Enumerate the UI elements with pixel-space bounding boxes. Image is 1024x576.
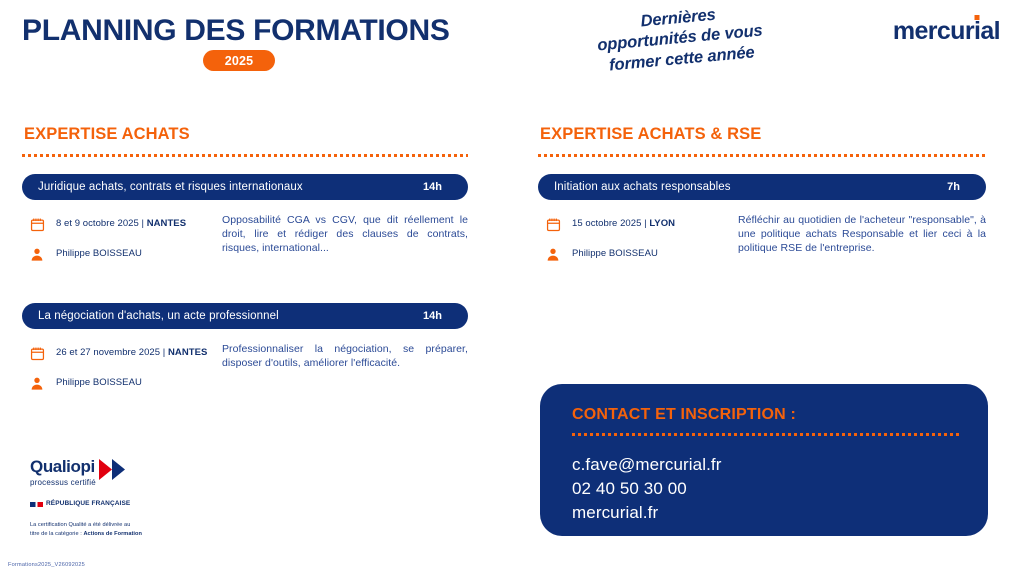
course-date-text: 8 et 9 octobre 2025 | — [56, 218, 147, 229]
course-date: 8 et 9 octobre 2025 | NANTES — [56, 218, 186, 229]
course-description: Professionnaliser la négociation, se pré… — [222, 342, 468, 394]
contact-phone[interactable]: 02 40 50 30 00 — [572, 477, 960, 501]
qualiopi-fine-print: La certification Qualité a été délivrée … — [30, 521, 220, 538]
calendar-icon — [546, 217, 572, 232]
course-title-bar[interactable]: Initiation aux achats responsables 7h — [538, 174, 986, 200]
course-date-text: 26 et 27 novembre 2025 | — [56, 347, 168, 358]
course-trainer-row: Philippe BOISSEAU — [30, 372, 222, 394]
course-date: 26 et 27 novembre 2025 | NANTES — [56, 347, 207, 358]
republique-francaise-mark: RÉPUBLIQUE FRANÇAISE — [30, 494, 220, 512]
contact-divider — [572, 433, 960, 436]
course-description: Opposabilité CGA vs CGV, que dit réellem… — [222, 213, 468, 265]
calendar-icon — [30, 346, 56, 361]
course-meta: 26 et 27 novembre 2025 | NANTES Philippe… — [30, 342, 222, 394]
course-details: 26 et 27 novembre 2025 | NANTES Philippe… — [22, 342, 468, 394]
column-expertise-achats: EXPERTISE ACHATS Juridique achats, contr… — [22, 125, 468, 394]
contact-website[interactable]: mercurial.fr — [572, 501, 960, 525]
column-expertise-achats-rse: EXPERTISE ACHATS & RSE Initiation aux ac… — [538, 125, 986, 265]
qualiopi-certification: Qualiopi processus certifié RÉPUBLIQUE F… — [30, 458, 220, 538]
course-date-row: 8 et 9 octobre 2025 | NANTES — [30, 213, 222, 235]
course-card: Juridique achats, contrats et risques in… — [22, 174, 468, 265]
course-trainer-row: Philippe BOISSEAU — [546, 243, 738, 265]
course-city: LYON — [649, 218, 675, 229]
course-trainer: Philippe BOISSEAU — [572, 248, 658, 259]
qualiopi-category: Actions de Formation — [83, 531, 142, 537]
logo-text-after-i: al — [980, 17, 1000, 45]
course-card: Initiation aux achats responsables 7h — [538, 174, 986, 265]
course-title: Initiation aux achats responsables — [554, 181, 947, 193]
course-date-text: 15 octobre 2025 | — [572, 218, 649, 229]
logo-text-before-i: mercur — [893, 17, 974, 45]
course-title: Juridique achats, contrats et risques in… — [38, 181, 423, 193]
section-heading-expertise-achats-rse: EXPERTISE ACHATS & RSE — [540, 125, 986, 144]
section-heading-expertise-achats: EXPERTISE ACHATS — [24, 125, 468, 144]
calendar-icon — [30, 217, 56, 232]
french-flag-icon — [30, 494, 43, 512]
page-title: PLANNING DES FORMATIONS — [22, 14, 450, 48]
course-date: 15 octobre 2025 | LYON — [572, 218, 675, 229]
course-title: La négociation d'achats, un acte profess… — [38, 310, 423, 322]
qualiopi-chevrons-icon — [99, 459, 133, 485]
course-date-row: 15 octobre 2025 | LYON — [546, 213, 738, 235]
qualiopi-fine-line-1: La certification Qualité a été délivrée … — [30, 521, 220, 530]
person-icon — [30, 247, 56, 262]
qualiopi-fine-line-2: titre de la catégorie : Actions de Forma… — [30, 530, 220, 539]
course-description: Réfléchir au quotidien de l'acheteur "re… — [738, 213, 986, 265]
qualiopi-logo: Qualiopi processus certifié — [30, 458, 220, 487]
qualiopi-wordmark-block: Qualiopi processus certifié — [30, 458, 96, 487]
section-divider — [22, 154, 468, 157]
course-meta: 8 et 9 octobre 2025 | NANTES Philippe BO… — [30, 213, 222, 265]
course-title-bar[interactable]: Juridique achats, contrats et risques in… — [22, 174, 468, 200]
logo-letter-i-with-orange-dot: i — [974, 19, 980, 44]
person-icon — [546, 247, 572, 262]
course-city: NANTES — [147, 218, 186, 229]
tagline: Dernières opportunités de vous former ce… — [558, 0, 803, 80]
course-duration: 7h — [947, 181, 968, 193]
contact-card: CONTACT ET INSCRIPTION : c.fave@mercuria… — [540, 384, 988, 536]
course-title-bar[interactable]: La négociation d'achats, un acte profess… — [22, 303, 468, 329]
person-icon — [30, 376, 56, 391]
qualiopi-wordmark: Qualiopi — [30, 458, 96, 475]
section-divider — [538, 154, 986, 157]
course-meta: 15 octobre 2025 | LYON Philippe BOISSEAU — [546, 213, 738, 265]
document-reference: Formations2025_V26092025 — [8, 562, 85, 568]
course-card: La négociation d'achats, un acte profess… — [22, 303, 468, 394]
course-trainer: Philippe BOISSEAU — [56, 377, 142, 388]
course-trainer: Philippe BOISSEAU — [56, 248, 142, 259]
contact-email[interactable]: c.fave@mercurial.fr — [572, 453, 960, 477]
qualiopi-subtitle: processus certifié — [30, 478, 96, 487]
course-duration: 14h — [423, 310, 450, 322]
course-date-row: 26 et 27 novembre 2025 | NANTES — [30, 342, 222, 364]
year-badge: 2025 — [203, 50, 275, 71]
contact-title: CONTACT ET INSCRIPTION : — [572, 406, 960, 424]
contact-details: c.fave@mercurial.fr 02 40 50 30 00 mercu… — [572, 453, 960, 525]
course-city: NANTES — [168, 347, 207, 358]
course-details: 8 et 9 octobre 2025 | NANTES Philippe BO… — [22, 213, 468, 265]
poster-canvas: PLANNING DES FORMATIONS 2025 Dernières o… — [0, 0, 1024, 576]
mercurial-logo: mercurial — [893, 19, 1000, 44]
qualiopi-fine-line-2-text: titre de la catégorie : — [30, 531, 83, 537]
course-duration: 14h — [423, 181, 450, 193]
course-trainer-row: Philippe BOISSEAU — [30, 243, 222, 265]
republique-francaise-text: RÉPUBLIQUE FRANÇAISE — [46, 500, 130, 507]
course-details: 15 octobre 2025 | LYON Philippe BOISSEAU… — [538, 213, 986, 265]
